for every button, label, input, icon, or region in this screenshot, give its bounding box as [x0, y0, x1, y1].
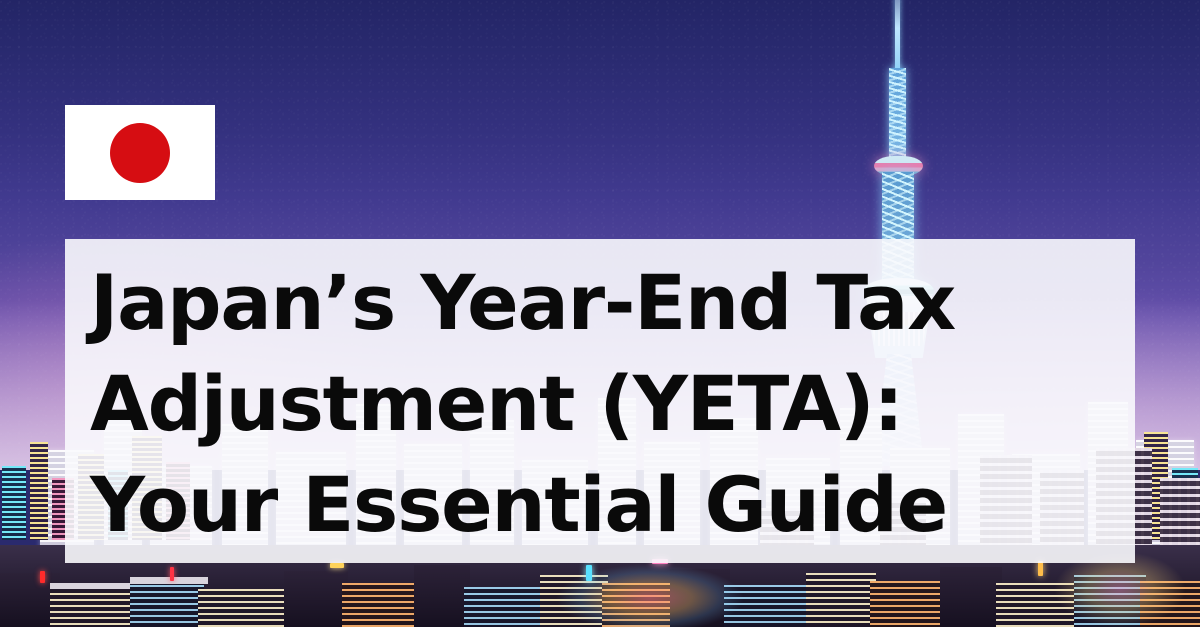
skytree-gain-tower	[889, 68, 906, 164]
neon-sign	[170, 567, 174, 581]
building	[284, 571, 348, 627]
building	[870, 581, 946, 627]
building	[414, 565, 470, 627]
japan-flag-red-disc	[110, 123, 170, 183]
building	[342, 583, 420, 627]
building	[806, 573, 876, 627]
rooftop	[130, 577, 208, 584]
rooftop	[50, 583, 140, 589]
building	[198, 589, 290, 627]
building	[464, 587, 546, 627]
neon-sign	[330, 563, 344, 568]
building	[2, 466, 26, 540]
building	[30, 442, 48, 540]
building	[50, 587, 136, 627]
page-title: Japan’s Year-End Tax Adjustment (YETA): …	[90, 252, 1090, 555]
neon-sign	[40, 571, 45, 583]
skytree-antenna-mast	[895, 0, 900, 76]
banner-image: Japan’s Year-End Tax Adjustment (YETA): …	[0, 0, 1200, 627]
japan-flag	[65, 105, 215, 200]
building	[130, 579, 204, 627]
building	[940, 567, 1002, 627]
street-neon-glow	[540, 555, 760, 627]
